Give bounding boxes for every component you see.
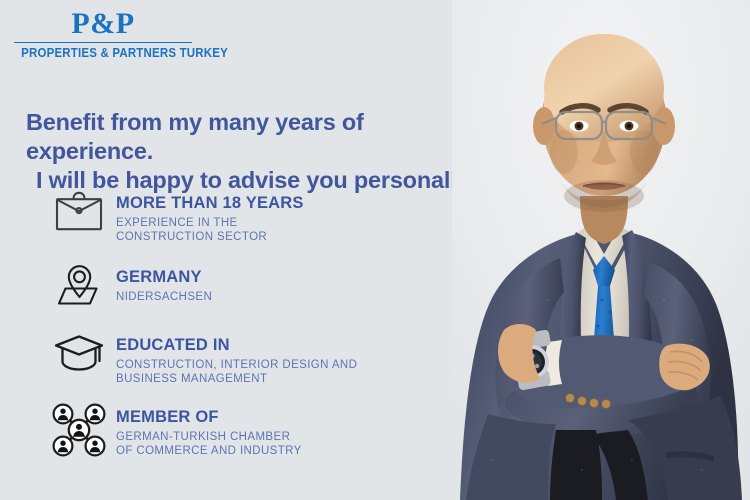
brand-logo[interactable]: P&P PROPERTIES & PARTNERS TURKEY bbox=[14, 8, 192, 60]
promo-banner: P&P PROPERTIES & PARTNERS TURKEY Benefit… bbox=[0, 0, 750, 500]
feature-list: MORE THAN 18 YEARS EXPERIENCE IN THE CON… bbox=[42, 186, 462, 462]
map-pin-icon bbox=[42, 260, 116, 308]
feature-text: EDUCATED IN CONSTRUCTION, INTERIOR DESIG… bbox=[116, 328, 462, 386]
feature-subtitle-line: OF COMMERCE AND INDUSTRY bbox=[116, 444, 462, 458]
feature-subtitle: EXPERIENCE IN THE CONSTRUCTION SECTOR bbox=[116, 216, 462, 244]
feature-subtitle-line: CONSTRUCTION SECTOR bbox=[116, 230, 462, 244]
feature-item-experience: MORE THAN 18 YEARS EXPERIENCE IN THE CON… bbox=[42, 186, 462, 248]
feature-subtitle: NIDERSACHSEN bbox=[116, 290, 462, 304]
logo-divider bbox=[14, 42, 192, 43]
headline-line-1: Benefit from my many years of experience… bbox=[26, 108, 496, 166]
feature-subtitle-line: CONSTRUCTION, INTERIOR DESIGN AND bbox=[116, 358, 462, 372]
feature-title: EDUCATED IN bbox=[116, 336, 462, 355]
feature-title: MORE THAN 18 YEARS bbox=[116, 194, 462, 213]
feature-title: MEMBER OF bbox=[116, 408, 462, 427]
feature-subtitle-line: EXPERIENCE IN THE bbox=[116, 216, 462, 230]
feature-item-membership: MEMBER OF GERMAN-TURKISH CHAMBER OF COMM… bbox=[42, 400, 462, 462]
feature-text: GERMANY NIDERSACHSEN bbox=[116, 260, 462, 304]
feature-text: MORE THAN 18 YEARS EXPERIENCE IN THE CON… bbox=[116, 186, 462, 244]
portrait-photo bbox=[452, 0, 750, 500]
network-people-icon bbox=[42, 400, 116, 458]
logo-tagline: PROPERTIES & PARTNERS TURKEY bbox=[21, 46, 185, 60]
feature-item-location: GERMANY NIDERSACHSEN bbox=[42, 260, 462, 316]
briefcase-icon bbox=[42, 186, 116, 236]
feature-subtitle: CONSTRUCTION, INTERIOR DESIGN AND BUSINE… bbox=[116, 358, 462, 386]
graduation-cap-icon bbox=[42, 328, 116, 376]
feature-title: GERMANY bbox=[116, 268, 462, 287]
feature-subtitle: GERMAN-TURKISH CHAMBER OF COMMERCE AND I… bbox=[116, 430, 462, 458]
feature-subtitle-line: NIDERSACHSEN bbox=[116, 290, 462, 304]
headline: Benefit from my many years of experience… bbox=[26, 108, 496, 195]
feature-item-education: EDUCATED IN CONSTRUCTION, INTERIOR DESIG… bbox=[42, 328, 462, 388]
logo-monogram: P&P bbox=[14, 8, 192, 40]
feature-subtitle-line: BUSINESS MANAGEMENT bbox=[116, 372, 462, 386]
feature-subtitle-line: GERMAN-TURKISH CHAMBER bbox=[116, 430, 462, 444]
feature-text: MEMBER OF GERMAN-TURKISH CHAMBER OF COMM… bbox=[116, 400, 462, 458]
